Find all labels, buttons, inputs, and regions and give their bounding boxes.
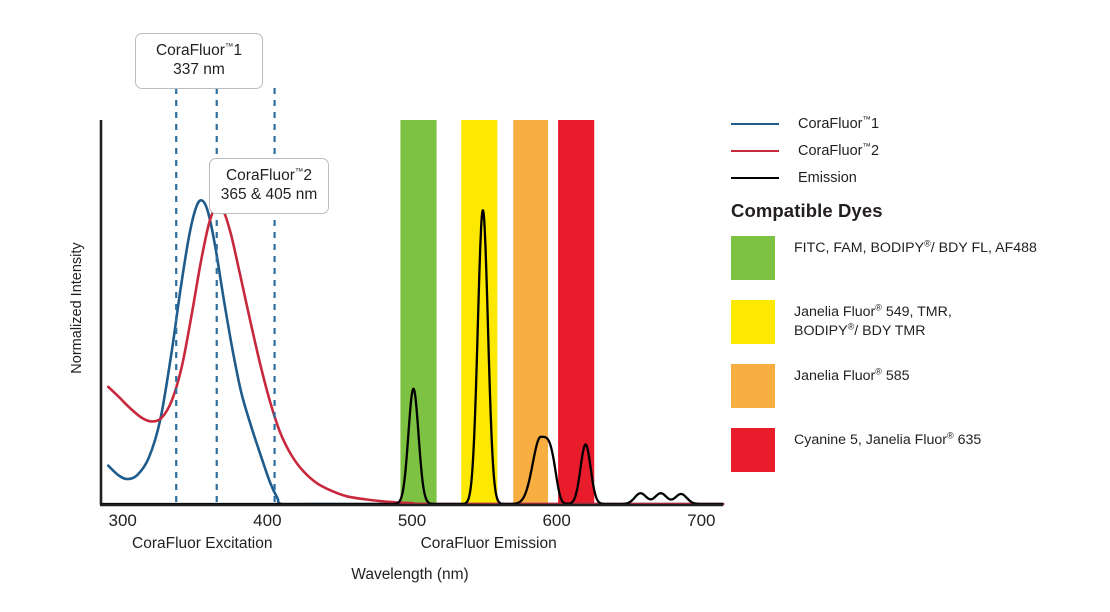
x-tick-500: 500 [382, 511, 442, 531]
callout-corafluor2: CoraFluor™2 365 & 405 nm [209, 158, 329, 214]
red-band [558, 120, 594, 504]
dye-row: Cyanine 5, Janelia Fluor® 635 [731, 428, 1101, 472]
callout-corafluor1-line1: CoraFluor™1 [146, 41, 252, 60]
callout-corafluor2-line1: CoraFluor™2 [220, 166, 318, 185]
y-axis-title: Normalized Intensity [69, 218, 85, 398]
x-axis-title: Wavelength (nm) [285, 566, 535, 584]
dye-color-swatch [731, 428, 775, 472]
callout-corafluor1-line2: 337 nm [146, 60, 252, 79]
legend-line-swatch [731, 123, 779, 125]
legend-row-emission: Emission [731, 164, 1091, 191]
x-tick-700: 700 [671, 511, 731, 531]
dye-label: FITC, FAM, BODIPY®/ BDY FL, AF488 [794, 236, 1037, 258]
legend-row-corafluor1: CoraFluor™1 [731, 110, 1091, 137]
trademark-icon: ™ [862, 141, 871, 151]
compatible-dyes-list: FITC, FAM, BODIPY®/ BDY FL, AF488Janelia… [731, 236, 1101, 492]
sub-axis-label-excitation: CoraFluor Excitation [52, 535, 352, 553]
orange-band [513, 120, 548, 504]
trademark-icon: ™ [862, 114, 871, 124]
legend-line-label: Emission [798, 170, 857, 186]
legend-line-label: CoraFluor™1 [798, 116, 879, 132]
x-tick-300: 300 [93, 511, 153, 531]
dye-row: Janelia Fluor® 549, TMR, BODIPY®/ BDY TM… [731, 300, 1101, 344]
legend-row-corafluor2: CoraFluor™2 [731, 137, 1091, 164]
callout-corafluor1: CoraFluor™1 337 nm [135, 33, 263, 89]
x-tick-600: 600 [527, 511, 587, 531]
compatible-dyes-heading: Compatible Dyes [731, 200, 883, 222]
dye-color-swatch [731, 364, 775, 408]
dye-label: Cyanine 5, Janelia Fluor® 635 [794, 428, 981, 450]
dye-row: Janelia Fluor® 585 [731, 364, 1101, 408]
x-tick-400: 400 [237, 511, 297, 531]
dye-label: Janelia Fluor® 585 [794, 364, 910, 386]
legend-line-label: CoraFluor™2 [798, 143, 879, 159]
registered-icon: ® [947, 430, 954, 440]
dye-color-swatch [731, 236, 775, 280]
dye-label: Janelia Fluor® 549, TMR, BODIPY®/ BDY TM… [794, 300, 952, 341]
series-legend: CoraFluor™1CoraFluor™2Emission [731, 110, 1091, 191]
spectra-figure: CoraFluor™1 337 nm CoraFluor™2 365 & 405… [0, 0, 1110, 612]
dye-row: FITC, FAM, BODIPY®/ BDY FL, AF488 [731, 236, 1101, 280]
registered-icon: ® [875, 366, 882, 376]
sub-axis-label-emission: CoraFluor Emission [339, 535, 639, 553]
legend-line-swatch [731, 177, 779, 179]
legend-line-swatch [731, 150, 779, 152]
registered-icon: ® [875, 302, 882, 312]
registered-icon: ® [848, 321, 855, 331]
callout-corafluor2-line2: 365 & 405 nm [220, 185, 318, 204]
registered-icon: ® [924, 238, 931, 248]
dye-color-swatch [731, 300, 775, 344]
